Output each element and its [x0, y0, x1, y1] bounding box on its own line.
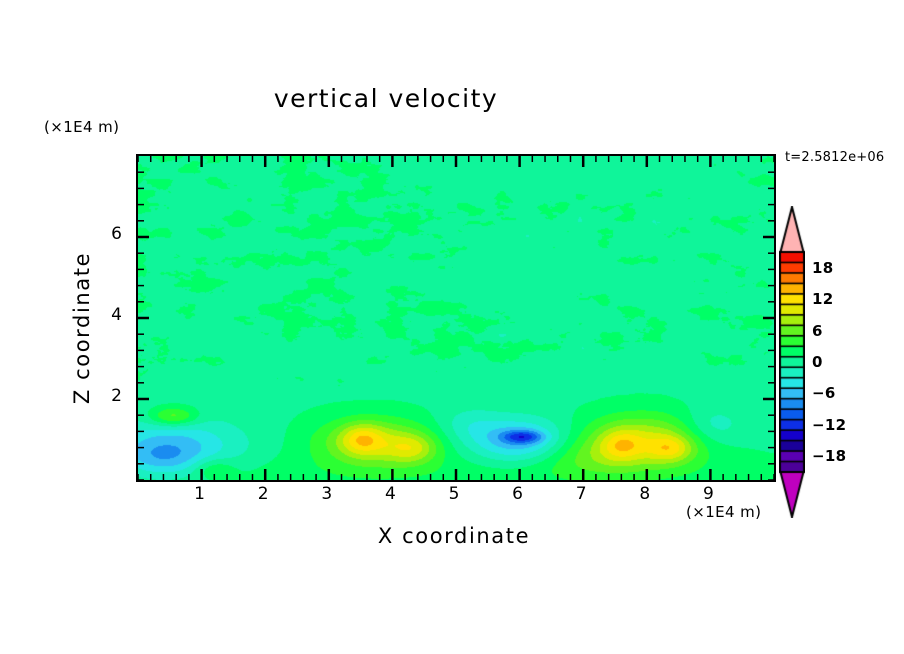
colorbar-tick-12: 12 — [812, 290, 833, 308]
colorbar-tick-neg12: −12 — [812, 416, 846, 434]
x-tick-label-1: 1 — [185, 484, 215, 504]
scalar-field-image — [138, 156, 774, 480]
colorbar-tick-neg18: −18 — [812, 447, 846, 465]
colorbar-tick-0: 0 — [812, 353, 823, 371]
colorbar-tick-neg6: −6 — [812, 384, 836, 402]
x-tick-label-8: 8 — [630, 484, 660, 504]
x-tick-label-3: 3 — [312, 484, 342, 504]
x-tick-label-9: 9 — [693, 484, 723, 504]
y-tick-label-6: 6 — [96, 224, 122, 244]
time-annotation: t=2.5812e+06 — [785, 150, 884, 165]
x-tick-label-6: 6 — [503, 484, 533, 504]
colorbar-gradient — [779, 206, 805, 518]
y-axis-unit-label: (×1E4 m) — [44, 118, 119, 136]
x-axis-unit-label: (×1E4 m) — [686, 503, 761, 521]
figure-canvas: vertical velocity (×1E4 m) (×1E4 m) t=2.… — [0, 0, 904, 654]
chart-title: vertical velocity — [0, 84, 772, 113]
contour-plot-area[interactable] — [136, 154, 776, 482]
x-tick-label-2: 2 — [248, 484, 278, 504]
colorbar-tick-6: 6 — [812, 322, 823, 340]
x-tick-label-5: 5 — [439, 484, 469, 504]
colorbar-tick-18: 18 — [812, 259, 833, 277]
x-axis-title: X coordinate — [136, 524, 772, 548]
y-tick-label-2: 2 — [96, 386, 122, 406]
x-tick-label-4: 4 — [375, 484, 405, 504]
x-tick-label-7: 7 — [566, 484, 596, 504]
y-tick-label-4: 4 — [96, 305, 122, 325]
y-axis-title: Z coordinate — [70, 198, 94, 458]
colorbar[interactable] — [779, 206, 805, 518]
